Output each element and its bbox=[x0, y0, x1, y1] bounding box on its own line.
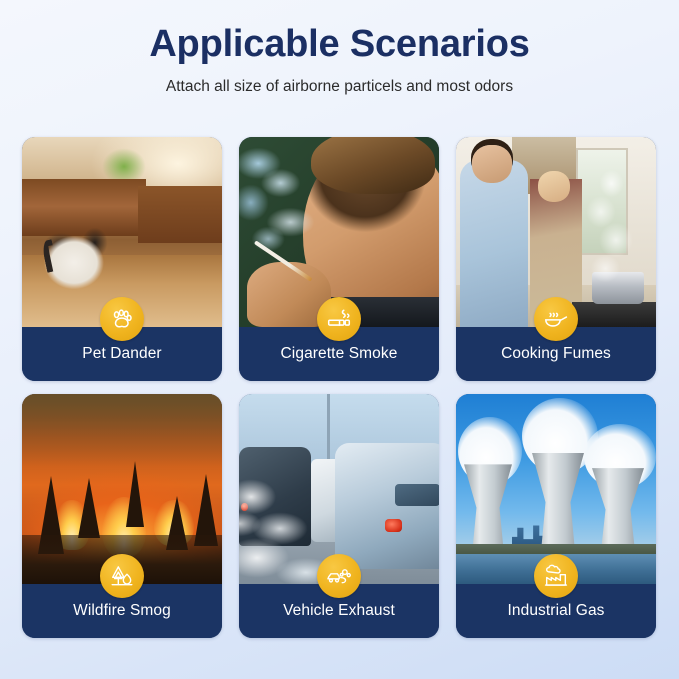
burning-tree bbox=[126, 461, 144, 527]
scenario-card-industrial-gas[interactable]: Industrial Gas bbox=[456, 394, 656, 638]
cooling-tower bbox=[464, 464, 512, 548]
page-title: Applicable Scenarios bbox=[0, 24, 679, 66]
paw-print-icon bbox=[100, 297, 144, 341]
card-label-text: Wildfire Smog bbox=[73, 602, 171, 620]
burning-tree bbox=[78, 478, 100, 538]
card-label-text: Cooking Fumes bbox=[501, 345, 611, 363]
scenario-card-vehicle-exhaust[interactable]: Vehicle Exhaust bbox=[239, 394, 439, 638]
cooking-steam bbox=[572, 167, 648, 285]
tail-light bbox=[385, 519, 402, 533]
scenario-card-pet-dander[interactable]: Pet Dander bbox=[22, 137, 222, 381]
smoke-plume bbox=[239, 141, 355, 282]
page-subtitle: Attach all size of airborne particels an… bbox=[0, 78, 679, 96]
scenario-card-wildfire-smog[interactable]: Wildfire Smog bbox=[22, 394, 222, 638]
street-pole bbox=[327, 394, 330, 466]
woman-head bbox=[538, 171, 570, 201]
cat-tail bbox=[41, 239, 59, 273]
frying-pan-icon bbox=[534, 297, 578, 341]
gas-stove bbox=[572, 302, 656, 327]
car-exhaust-icon bbox=[317, 554, 361, 598]
factory-icon bbox=[534, 554, 578, 598]
car-window bbox=[395, 484, 439, 507]
card-label-text: Cigarette Smoke bbox=[281, 345, 398, 363]
scenario-card-cigarette-smoke[interactable]: Cigarette Smoke bbox=[239, 137, 439, 381]
page-header: Applicable Scenarios Attach all size of … bbox=[0, 0, 679, 96]
card-label-text: Vehicle Exhaust bbox=[283, 602, 395, 620]
burning-forest-icon bbox=[100, 554, 144, 598]
cooling-tower bbox=[592, 468, 644, 548]
scenario-card-grid: Pet Dander Cigarette Smoke bbox=[22, 137, 657, 638]
smoke-haze bbox=[22, 394, 222, 466]
card-label-text: Industrial Gas bbox=[507, 602, 604, 620]
card-label-text: Pet Dander bbox=[82, 345, 161, 363]
cooling-tower bbox=[532, 453, 584, 548]
cat-figure bbox=[42, 217, 122, 312]
scenario-card-cooking-fumes[interactable]: Cooking Fumes bbox=[456, 137, 656, 381]
man-figure bbox=[460, 160, 528, 327]
cigarette-icon bbox=[317, 297, 361, 341]
man-head bbox=[472, 145, 512, 183]
houseplant bbox=[102, 148, 146, 178]
